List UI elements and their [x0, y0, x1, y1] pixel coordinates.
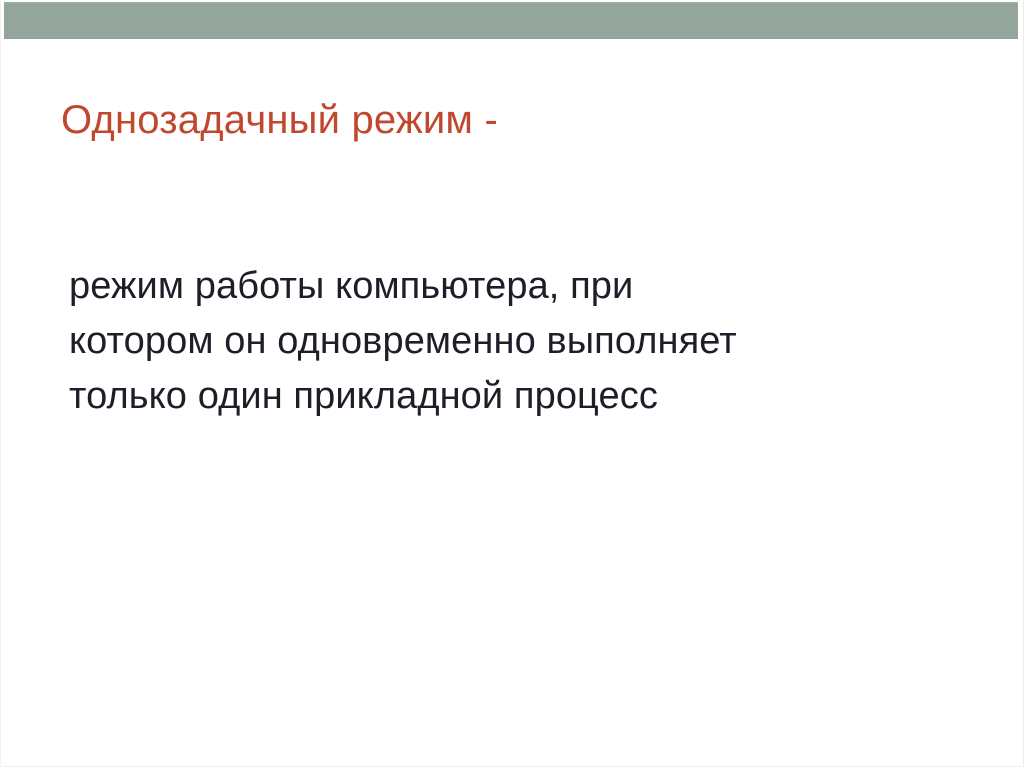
- body-line: котором он одновременно выполняет: [69, 314, 989, 369]
- top-decorative-band: [4, 2, 1018, 39]
- slide-body: режим работы компьютера, при котором он …: [69, 259, 989, 424]
- body-line: режим работы компьютера, при: [69, 259, 989, 314]
- top-band-bottom-edge: [4, 38, 1018, 39]
- slide-title: Однозадачный режим -: [61, 96, 961, 144]
- slide-canvas: Однозадачный режим - режим работы компью…: [0, 0, 1024, 767]
- top-band-highlight: [4, 2, 1018, 4]
- body-line: только один прикладной процесс: [69, 369, 989, 424]
